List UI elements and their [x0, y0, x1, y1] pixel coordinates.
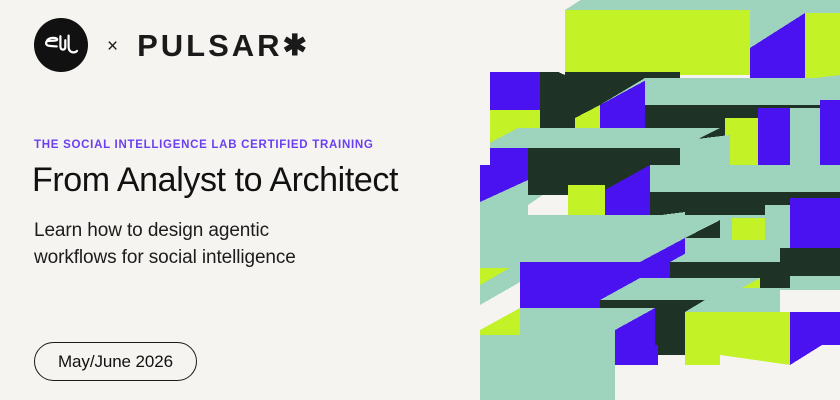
- page-title: From Analyst to Architect: [32, 160, 398, 200]
- times-separator-icon: ×: [107, 37, 118, 56]
- subtitle: Learn how to design agentic workflows fo…: [34, 218, 296, 272]
- sil-circle-logo-icon: [34, 18, 88, 72]
- eyebrow-text: THE SOCIAL INTELLIGENCE LAB CERTIFIED TR…: [34, 139, 374, 151]
- content-column: × PULSAR ✱ THE SOCIAL INTELLIGENCE LAB C…: [34, 0, 494, 400]
- pulsar-wordmark-text: PULSAR: [137, 30, 282, 61]
- poster-canvas: × PULSAR ✱ THE SOCIAL INTELLIGENCE LAB C…: [0, 0, 840, 400]
- isometric-artwork: [480, 0, 840, 400]
- brand-lockup: × PULSAR ✱: [34, 18, 307, 72]
- asterisk-icon: ✱: [283, 32, 307, 61]
- subtitle-line-2: workflows for social intelligence: [34, 245, 296, 272]
- date-badge: May/June 2026: [34, 342, 197, 381]
- subtitle-line-1: Learn how to design agentic: [34, 218, 296, 245]
- pulsar-wordmark: PULSAR ✱: [137, 30, 307, 61]
